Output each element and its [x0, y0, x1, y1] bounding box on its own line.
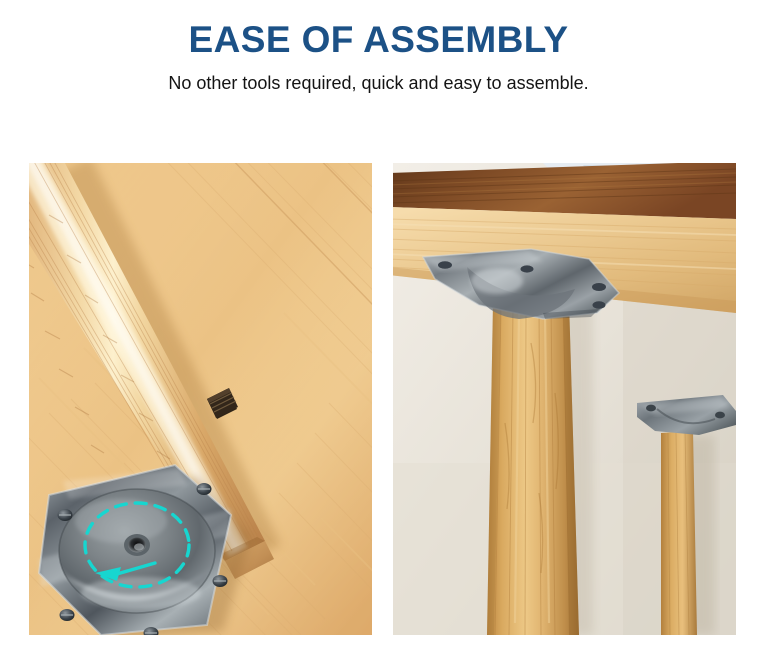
leg-and-plate-illustration: [29, 163, 372, 635]
dome-reflection-low: [81, 577, 201, 609]
photo-leg-and-mounting-plate: [29, 163, 372, 635]
center-hole-glint: [134, 543, 144, 550]
page-title: EASE OF ASSEMBLY: [0, 0, 757, 62]
page-subtitle: No other tools required, quick and easy …: [0, 62, 757, 95]
photo-legs-installed-under-tabletop: [393, 163, 736, 635]
header: EASE OF ASSEMBLY No other tools required…: [0, 0, 757, 95]
leg2-body: [661, 431, 697, 635]
table-leg-primary: [487, 293, 593, 635]
bracket1-specular: [471, 268, 523, 294]
installed-legs-illustration: [393, 163, 736, 635]
